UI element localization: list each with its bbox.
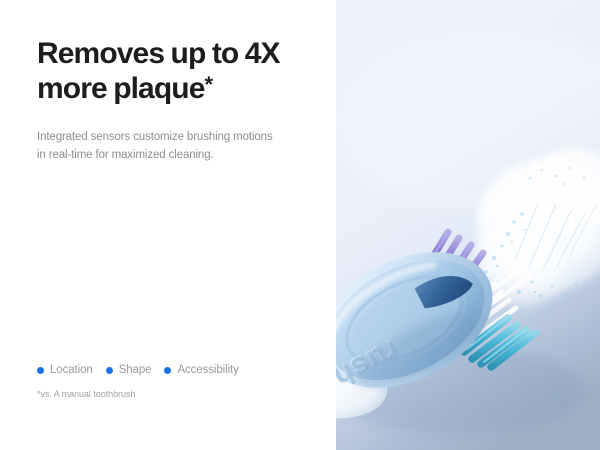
headline-line-2: more plaque — [37, 72, 204, 105]
footnote: *vs. A manual toothbrush — [37, 389, 135, 399]
legend-item-label: Accessibility — [177, 364, 238, 376]
text-panel: Removes up to 4X more plaque* Integrated… — [0, 0, 336, 450]
legend-item-shape[interactable]: Shape — [106, 364, 152, 376]
legend-item-accessibility[interactable]: Accessibility — [164, 364, 238, 376]
subcopy-text: Integrated sensors customize brushing mo… — [37, 129, 279, 164]
headline-asterisk: * — [204, 72, 213, 97]
page-title: Removes up to 4X more plaque* — [37, 36, 306, 106]
legend-item-label: Location — [50, 364, 93, 376]
legend: Location Shape Accessibility — [37, 364, 239, 376]
legend-dot-icon — [37, 367, 44, 374]
product-image-panel: rush rush — [336, 0, 600, 450]
legend-item-label: Shape — [119, 364, 152, 376]
headline-line-1: Removes up to 4X — [37, 37, 280, 70]
legend-dot-icon — [106, 367, 113, 374]
promo-card: Removes up to 4X more plaque* Integrated… — [0, 0, 600, 450]
toothbrush-photo: rush rush — [336, 0, 600, 450]
legend-dot-icon — [164, 367, 171, 374]
legend-item-location[interactable]: Location — [37, 364, 93, 376]
